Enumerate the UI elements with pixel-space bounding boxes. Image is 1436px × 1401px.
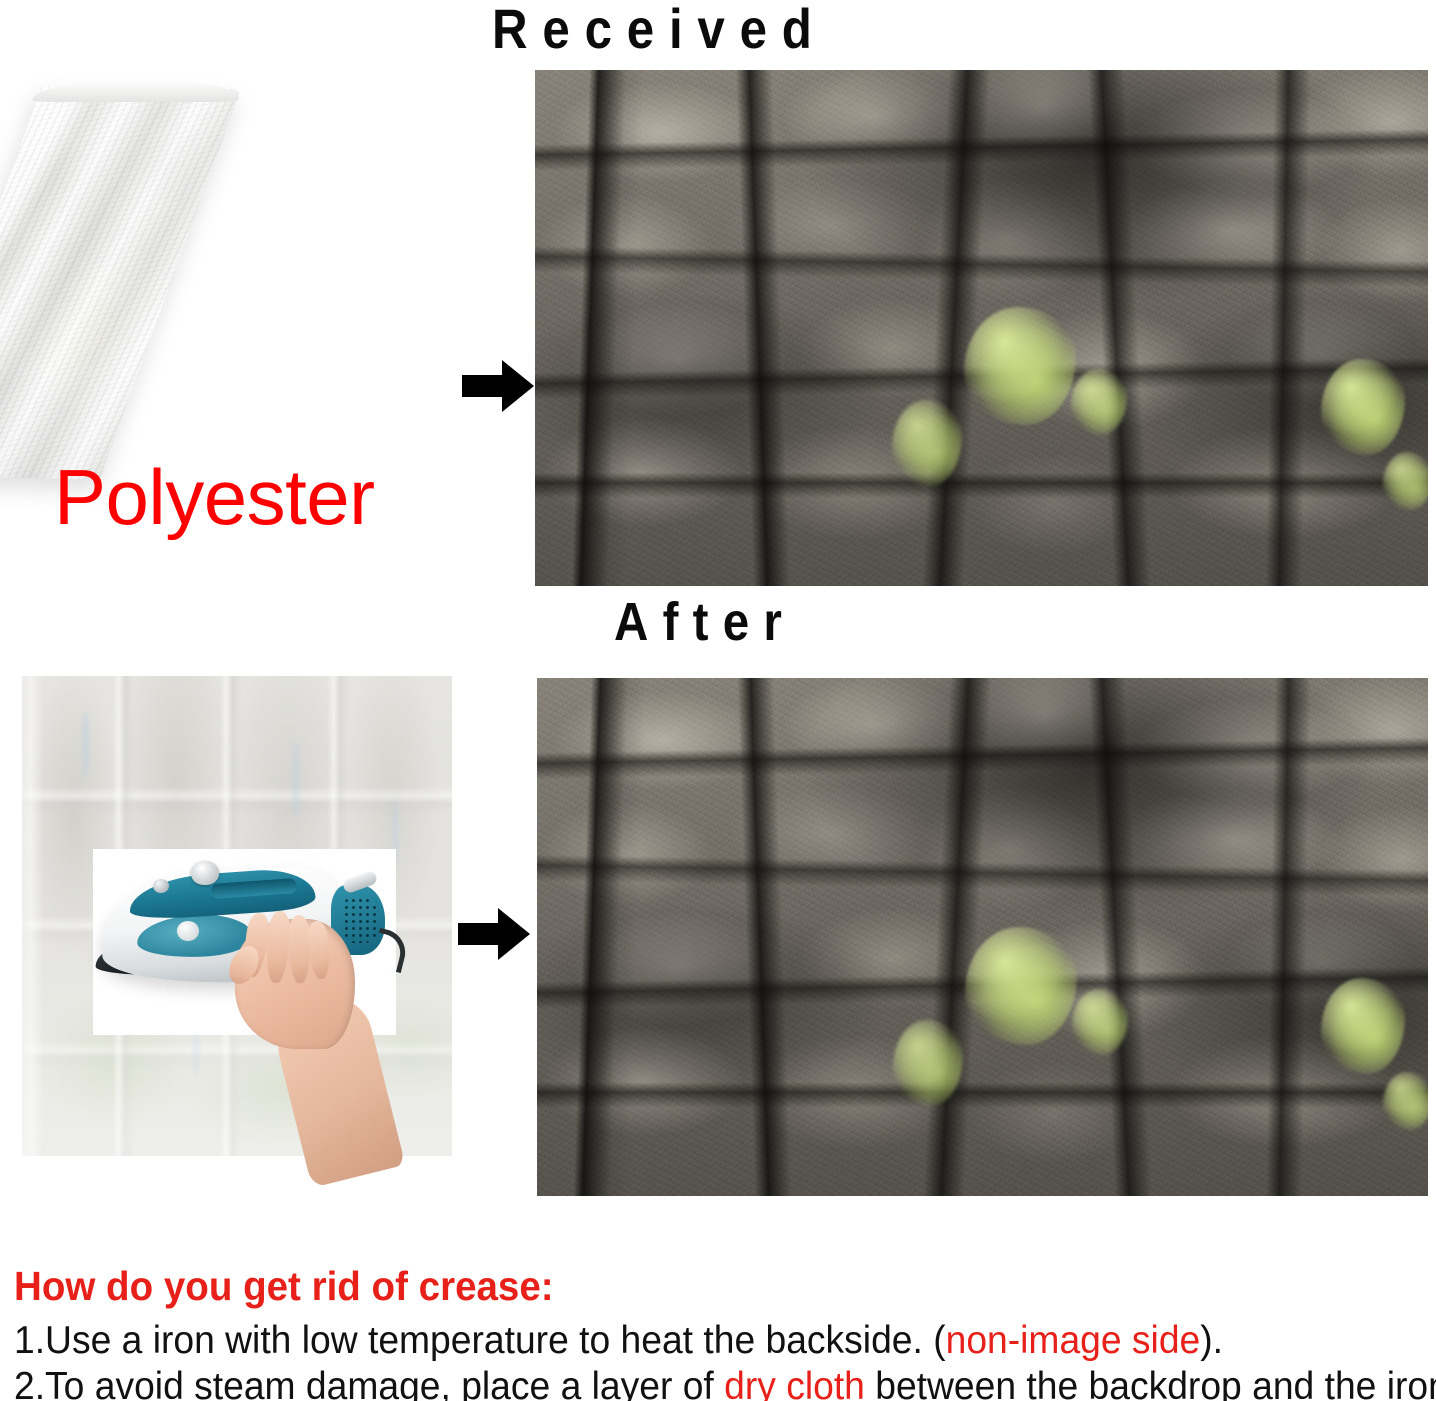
received-backdrop-photo [535, 70, 1428, 586]
foliage-tuft [1383, 1072, 1428, 1130]
foliage-tuft [965, 927, 1077, 1045]
foliage-tuft [1383, 452, 1428, 510]
infographic-page: Received Polyester After [0, 0, 1436, 1401]
arrow-right-icon [462, 358, 534, 414]
received-section-title: Received [492, 0, 827, 60]
rock-shadow-overlay [537, 678, 1428, 1196]
instruction-1-highlight: non-image side [946, 1319, 1201, 1362]
polyester-material-label: Polyester [54, 455, 375, 539]
foliage-tuft [1072, 989, 1128, 1055]
instructions-heading: How do you get rid of crease: [14, 1262, 1339, 1310]
after-backdrop-photo [537, 678, 1428, 1196]
instruction-2-text-before: 2.To avoid steam damage, place a layer o… [14, 1365, 724, 1401]
fabric-roll-top-edge [31, 80, 245, 102]
instruction-1-text-after: ). [1200, 1319, 1223, 1362]
foliage-tuft [1321, 359, 1405, 455]
instruction-2-text-after: between the backdrop and the iron. [865, 1365, 1436, 1401]
fabric-roll-body [0, 86, 241, 479]
instruction-line-1: 1.Use a iron with low temperature to hea… [14, 1318, 1361, 1363]
folded-polyester-backdrop-roll [8, 82, 428, 477]
iron-vent-grille [343, 897, 379, 943]
foliage-tuft [1071, 369, 1127, 435]
iron-steam-knob [191, 861, 219, 885]
instruction-2-highlight: dry cloth [724, 1365, 865, 1401]
care-instructions: How do you get rid of crease: 1.Use a ir… [14, 1262, 1424, 1401]
instruction-1-text-before: 1.Use a iron with low temperature to hea… [14, 1319, 946, 1362]
instruction-line-2: 2.To avoid steam damage, place a layer o… [14, 1364, 1361, 1401]
steam-iron-photo [93, 849, 396, 1035]
foliage-tuft [964, 307, 1076, 425]
finger [288, 915, 310, 983]
after-section-title: After [614, 592, 796, 652]
arrow-right-icon [458, 906, 530, 962]
iron-temperature-dial [177, 921, 199, 941]
iron-spray-button [153, 879, 169, 893]
